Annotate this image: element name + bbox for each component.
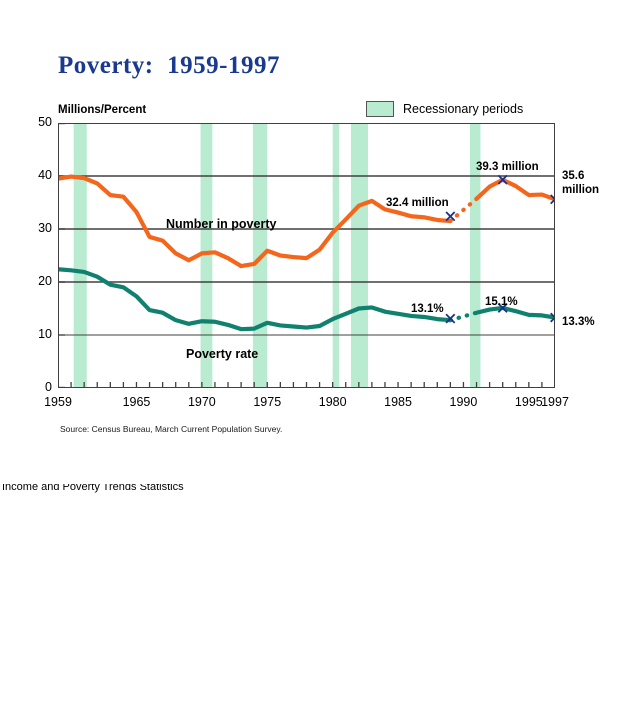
annotation-rate-1989: 13.1% bbox=[411, 303, 444, 317]
annotation-number-1993: 39.3 million bbox=[476, 161, 539, 175]
x-tick-label: 1970 bbox=[182, 395, 222, 409]
recession-band bbox=[74, 124, 87, 387]
source-note: Source: Census Bureau, March Current Pop… bbox=[60, 424, 282, 434]
recession-band-swatch bbox=[366, 101, 394, 117]
series-label-number-in-poverty: Number in poverty bbox=[166, 217, 276, 231]
series-line-number-in-poverty-post bbox=[477, 180, 555, 200]
y-tick-label: 20 bbox=[24, 274, 52, 288]
annotation-number-1989: 32.4 million bbox=[386, 197, 449, 211]
y-tick-label: 40 bbox=[24, 168, 52, 182]
x-tick-label: 1975 bbox=[247, 395, 287, 409]
y-tick-label: 0 bbox=[24, 380, 52, 394]
annotation-rate-1993: 15.1% bbox=[485, 296, 518, 310]
y-tick-label: 50 bbox=[24, 115, 52, 129]
annotation-rate-1997: 13.3% bbox=[562, 316, 595, 330]
annotation-number-1997: 35.6million bbox=[562, 170, 599, 197]
page-title: Poverty: 1959-1997 bbox=[58, 52, 280, 80]
y-tick-marks-group bbox=[58, 124, 65, 388]
clipped-footer-text: Income and Poverty Trends Statistics bbox=[2, 484, 302, 493]
y-tick-label: 30 bbox=[24, 221, 52, 235]
x-tick-label: 1965 bbox=[116, 395, 156, 409]
legend-item-recessionary-periods: Recessionary periods bbox=[403, 102, 523, 116]
x-tick-label: 1980 bbox=[313, 395, 353, 409]
y-tick-label: 10 bbox=[24, 327, 52, 341]
chart-legend: Recessionary periods bbox=[366, 101, 523, 117]
y-axis-unit-label: Millions/Percent bbox=[58, 104, 146, 116]
x-tick-label: 1985 bbox=[378, 395, 418, 409]
x-tick-label: 1997 bbox=[535, 395, 575, 409]
x-tick-label: 1990 bbox=[443, 395, 483, 409]
clipped-footer-label: Income and Poverty Trends Statistics bbox=[2, 484, 302, 493]
annotation-number-1997-unit: million bbox=[562, 184, 599, 196]
recession-band bbox=[333, 124, 340, 387]
series-label-poverty-rate: Poverty rate bbox=[186, 347, 258, 361]
x-tick-label: 1959 bbox=[38, 395, 78, 409]
annotation-number-1997-value: 35.6 bbox=[562, 170, 584, 182]
recession-band bbox=[351, 124, 368, 387]
